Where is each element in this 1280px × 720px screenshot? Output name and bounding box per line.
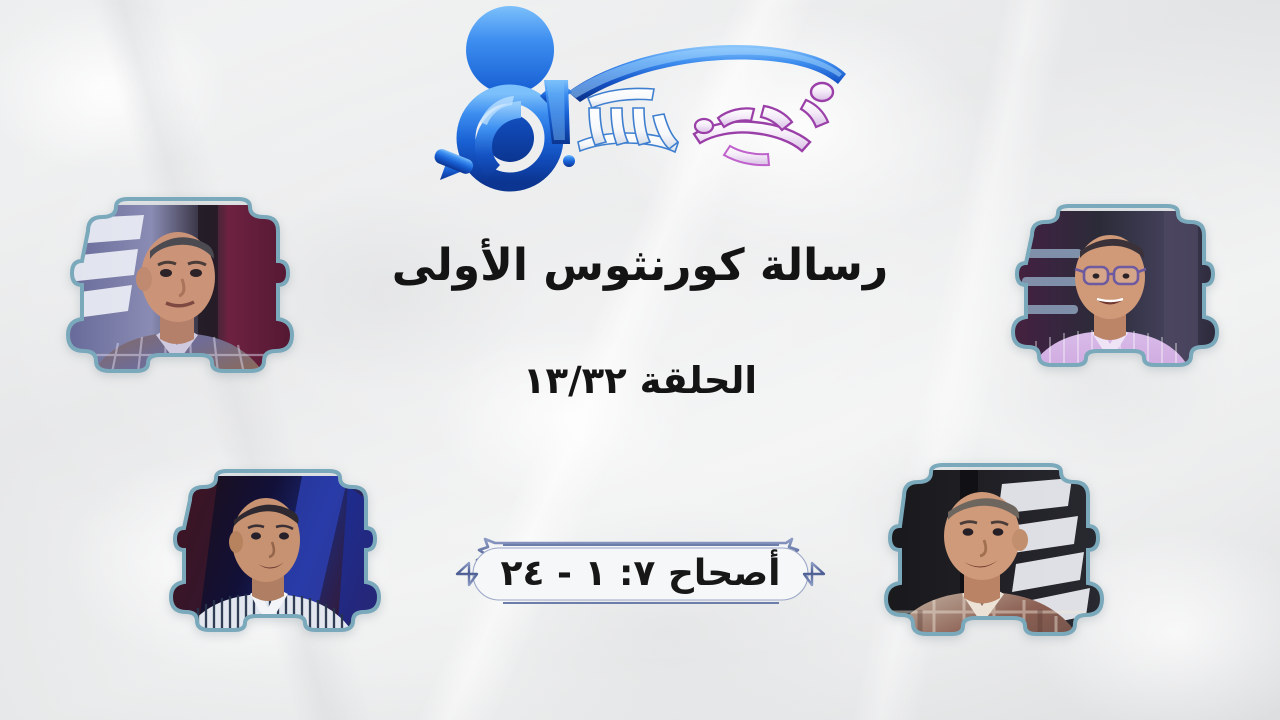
scripture-reference-text: أصحاح ٧: ١ - ٢٤: [443, 533, 838, 615]
episode-label: الحلقة ١٣/٣٢: [340, 359, 940, 403]
logo-dot: [563, 155, 575, 167]
logo-word-fahseen: [694, 83, 833, 165]
guest-photo-bottom-left: [152, 476, 390, 676]
series-title: رسالة كورنثوس الأولى: [340, 240, 940, 293]
guest-photo-bottom-right: [864, 470, 1112, 682]
guest-photo-top-left: [48, 205, 306, 417]
magnifying-glass-icon: [432, 6, 572, 182]
guest-photo-top-right: [996, 211, 1224, 411]
title-block: رسالة كورنثوس الأولى الحلقة ١٣/٣٢: [340, 240, 940, 403]
program-logo: [418, 22, 862, 188]
logo-word-alkutub: [578, 88, 678, 152]
scripture-reference-plaque: أصحاح ٧: ١ - ٢٤: [443, 533, 838, 615]
broadcast-title-card: رسالة كورنثوس الأولى الحلقة ١٣/٣٢: [0, 0, 1280, 720]
